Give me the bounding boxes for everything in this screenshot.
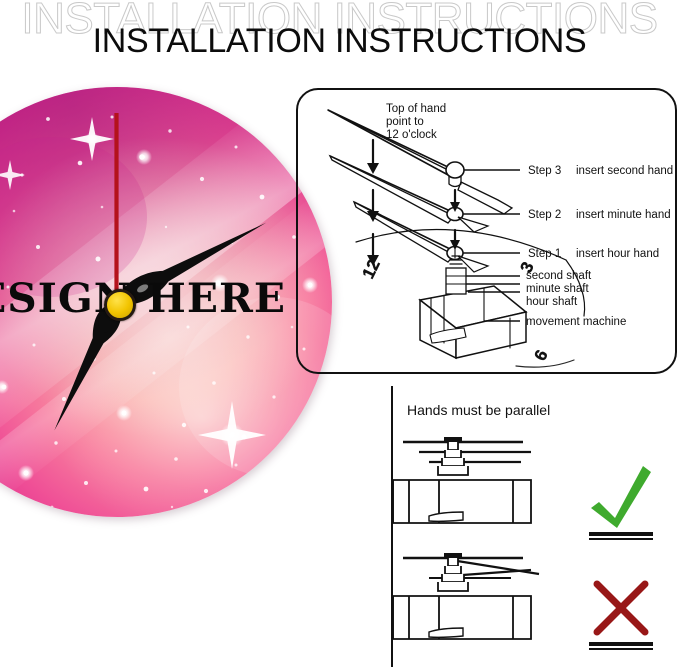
assembly-diagram-drawing: 12 3 6 [298, 90, 675, 372]
instruction-sheet: INSTALLATION INSTRUCTIONS INSTALLATION I… [0, 0, 679, 667]
step-1-text: insert hour hand [576, 248, 659, 260]
callout-note-line-3: 12 o'clock [386, 129, 437, 142]
parallel-comparison-drawing [391, 428, 679, 667]
clock-center-hub [104, 289, 136, 321]
correct-check-icon [589, 466, 653, 540]
step-3-label: Step 3insert second hand [528, 165, 673, 178]
dial-numeral-6: 6 [531, 347, 552, 364]
step-2-number: Step 2 [528, 209, 576, 222]
parallel-hands-panel: Hands must be parallel [391, 386, 679, 667]
step-2-label: Step 2insert minute hand [528, 209, 671, 222]
assembly-diagram-panel: 12 3 6 Top of hand point to 12 o'clock S… [296, 88, 677, 374]
clock-product-image: YOUR DESIGN HERE [0, 87, 332, 517]
callout-note-line-1: Top of hand [386, 103, 446, 116]
parallel-heading: Hands must be parallel [407, 402, 550, 418]
hour-shaft-label: hour shaft [526, 296, 577, 309]
step-3-text: insert second hand [576, 165, 673, 177]
incorrect-cross-icon [589, 584, 653, 650]
page-title: INSTALLATION INSTRUCTIONS [0, 22, 679, 61]
step-1-label: Step 1insert hour hand [528, 248, 659, 261]
second-shaft-label: second shaft [526, 270, 591, 283]
movement-machine-label: movement machine [526, 316, 626, 329]
callout-note-line-2: point to [386, 116, 424, 129]
step-3-number: Step 3 [528, 165, 576, 178]
minute-shaft-label: minute shaft [526, 283, 589, 296]
dial-numeral-12: 12 [359, 256, 384, 281]
step-2-text: insert minute hand [576, 209, 671, 221]
step-1-number: Step 1 [528, 248, 576, 261]
